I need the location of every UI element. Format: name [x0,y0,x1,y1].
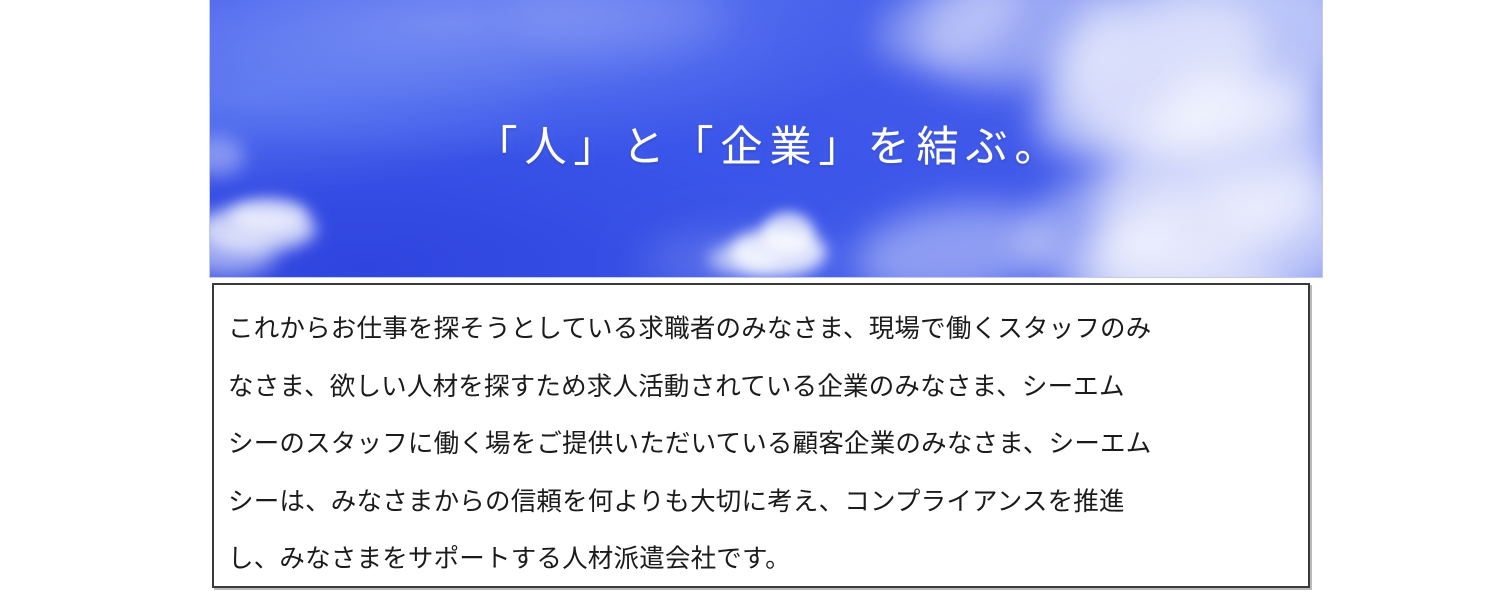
intro-text-line: し、みなさまをサポートする人材派遣会社です。 [228,531,1294,589]
page-root: 「人」と「企業」を結ぶ。 これからお仕事を探そうとしている求職者のみなさま、現場… [0,0,1500,600]
intro-text-line: シーのスタッフに働く場をご提供いただいている顧客企業のみなさま、シーエム [228,416,1294,474]
intro-text-line: これからお仕事を探そうとしている求職者のみなさま、現場で働くスタッフのみ [228,301,1294,359]
hero-tagline: 「人」と「企業」を結ぶ。 [210,122,1322,174]
hero-banner: 「人」と「企業」を結ぶ。 [210,0,1322,277]
intro-text-line: シーは、みなさまからの信頼を何よりも大切に考え、コンプライアンスを推進 [228,474,1294,532]
intro-text-line: なさま、欲しい人材を探すため求人活動されている企業のみなさま、シーエム [228,359,1294,417]
intro-message-box: これからお仕事を探そうとしている求職者のみなさま、現場で働くスタッフのみ なさま… [212,283,1310,588]
intro-message-body: これからお仕事を探そうとしている求職者のみなさま、現場で働くスタッフのみ なさま… [214,285,1308,599]
